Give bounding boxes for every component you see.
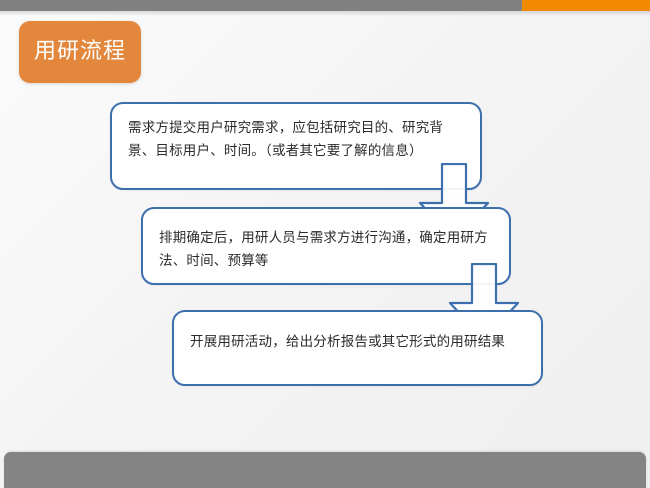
flow-step-text-2: 排期确定后，用研人员与需求方进行沟通，确定用研方法、时间、预算等 <box>159 227 495 273</box>
flow-step-text-1: 需求方提交用户研究需求，应包括研究目的、研究背景、目标用户、时间。（或者其它要了… <box>128 117 466 163</box>
slide-canvas: 用研流程 需求方提交用户研究需求，应包括研究目的、研究背景、目标用户、时间。（或… <box>0 0 650 488</box>
topbar-shadow <box>0 11 650 16</box>
topbar-orange-segment <box>522 0 650 11</box>
page-title: 用研流程 <box>34 41 126 63</box>
bottom-decorative-bar <box>4 452 646 488</box>
page-title-chip: 用研流程 <box>19 21 141 83</box>
topbar-gray-segment <box>0 0 522 11</box>
top-decorative-bar <box>0 0 650 11</box>
flow-step-text-3: 开展用研活动，给出分析报告或其它形式的用研结果 <box>190 331 527 354</box>
flow-step-box-3: 开展用研活动，给出分析报告或其它形式的用研结果 <box>172 310 543 386</box>
